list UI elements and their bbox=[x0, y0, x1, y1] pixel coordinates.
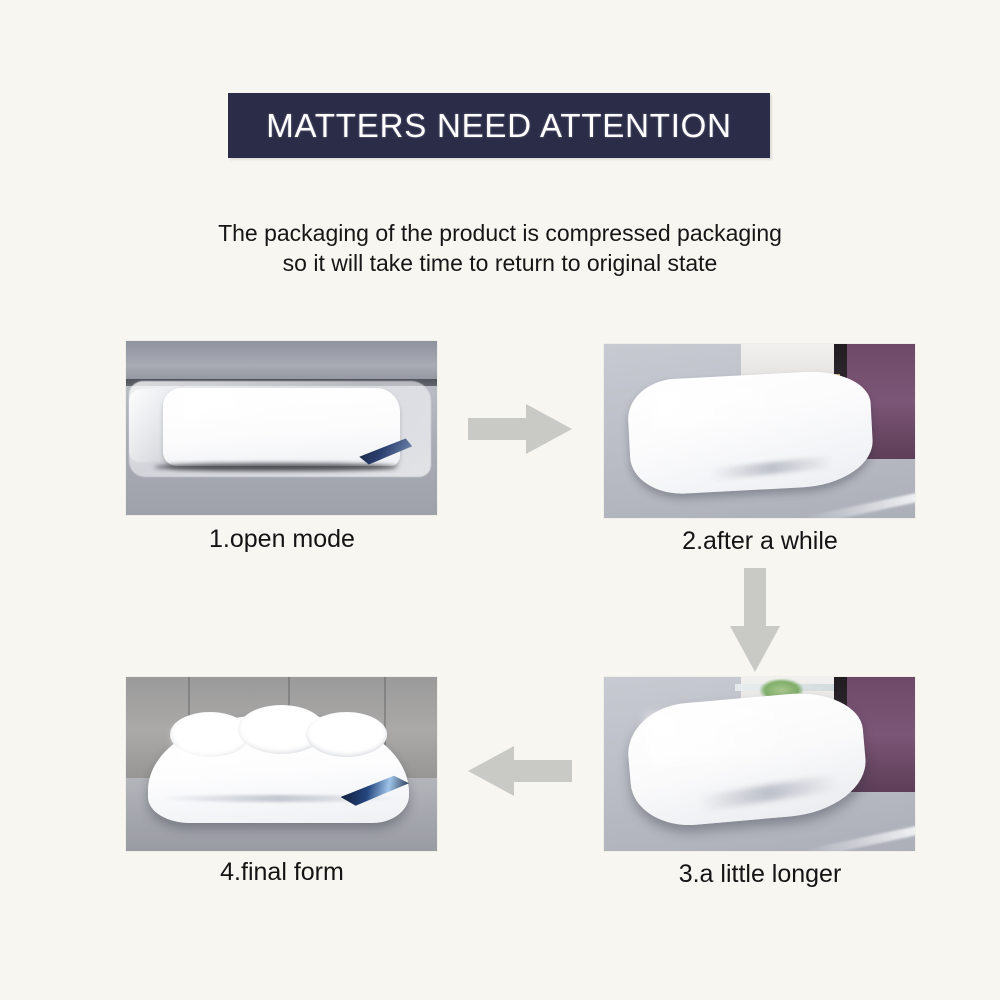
subtitle-block: The packaging of the product is compress… bbox=[0, 218, 1000, 278]
step-4-image bbox=[126, 677, 437, 851]
pillow-lobe bbox=[306, 712, 387, 757]
arrow-left-icon bbox=[468, 742, 572, 800]
pillow-highlight bbox=[176, 729, 300, 767]
subtitle-line-1: The packaging of the product is compress… bbox=[0, 218, 1000, 248]
step-3-caption: 3.a little longer bbox=[604, 860, 916, 889]
page-title: MATTERS NEED ATTENTION bbox=[266, 107, 732, 145]
step-3-image bbox=[604, 677, 915, 851]
step-1-caption: 1.open mode bbox=[126, 525, 438, 554]
subtitle-line-2: so it will take time to return to origin… bbox=[0, 248, 1000, 278]
page-title-banner: MATTERS NEED ATTENTION bbox=[228, 93, 770, 158]
step-1-image bbox=[126, 341, 437, 515]
pillow-highlight bbox=[182, 390, 306, 418]
arrow-right-icon bbox=[468, 400, 572, 458]
step-2-image bbox=[604, 344, 915, 518]
step-4-caption: 4.final form bbox=[126, 858, 438, 887]
arrow-down-icon bbox=[726, 568, 784, 672]
step-2-caption: 2.after a while bbox=[604, 527, 916, 556]
